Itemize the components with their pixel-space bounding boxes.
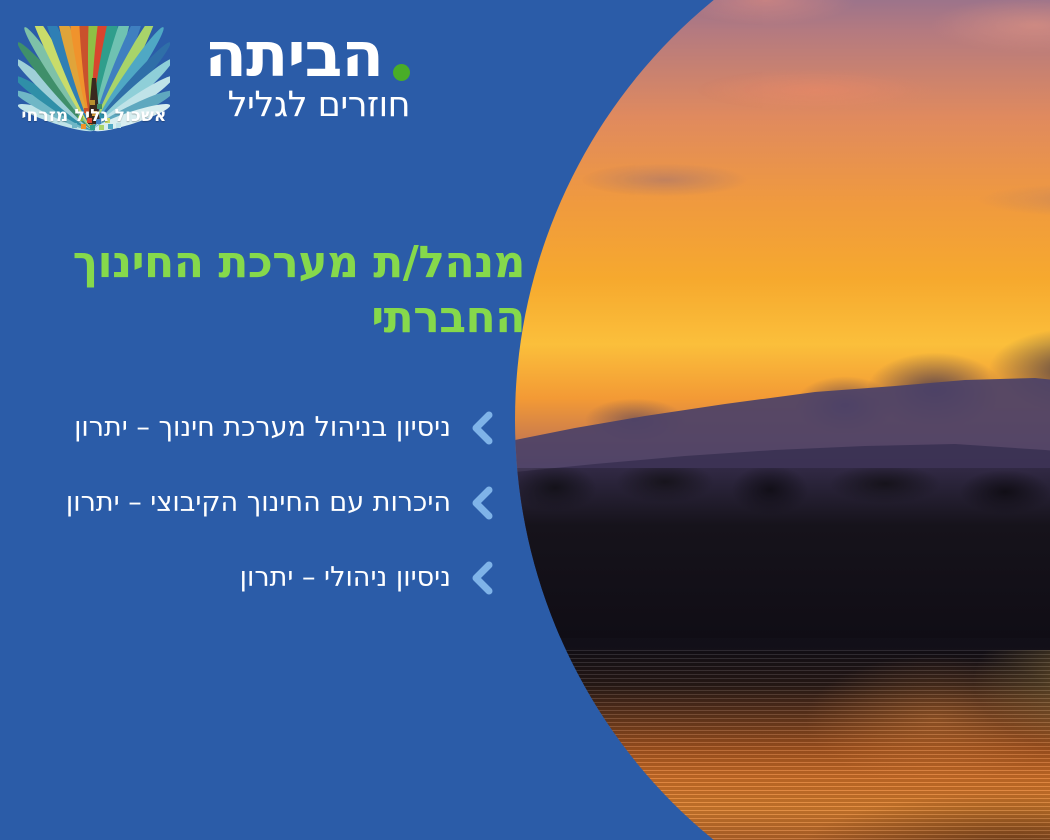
list-item: היכרות עם החינוך הקיבוצי – יתרון <box>0 485 495 521</box>
brand-tagline-text: חוזרים לגליל <box>180 87 410 124</box>
page-title: מנהל/ת מערכת החינוך החברתי <box>65 235 525 345</box>
list-item: ניסיון ניהולי – יתרון <box>0 560 495 596</box>
vegetation-silhouette <box>515 468 1050 638</box>
cluster-name-label: אשכול גליל מזרחי <box>18 106 170 126</box>
list-item-label: ניסיון בניהול מערכת חינוך – יתרון <box>74 411 451 445</box>
list-item-label: ניסיון ניהולי – יתרון <box>240 561 451 595</box>
brand-name-text: הביתה <box>204 26 383 85</box>
brand-green-dot <box>393 64 410 81</box>
photo-ellipse-clip <box>515 0 1050 840</box>
logo-block: אשכול גליל מזרחי הביתה חוזרים לגליל <box>0 0 470 160</box>
water-reflection <box>515 650 1050 840</box>
sunset-river-landscape-photo <box>515 0 1050 840</box>
list-item: ניסיון בניהול מערכת חינוך – יתרון <box>0 410 495 446</box>
chevron-left-icon <box>469 410 495 446</box>
brand-lockup: הביתה חוזרים לגליל <box>180 26 410 124</box>
list-item-label: היכרות עם החינוך הקיבוצי – יתרון <box>66 486 451 520</box>
chevron-left-icon <box>469 560 495 596</box>
chevron-left-icon <box>469 485 495 521</box>
slide-root: אשכול גליל מזרחי הביתה חוזרים לגליל מנהל… <box>0 0 1050 840</box>
requirements-list: ניסיון בניהול מערכת חינוך – יתרון היכרות… <box>0 410 495 635</box>
